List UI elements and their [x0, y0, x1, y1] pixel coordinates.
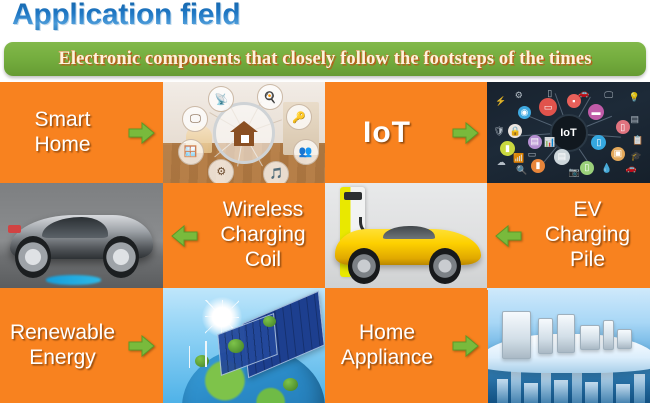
cell-label-iot: IoT: [325, 115, 449, 150]
arrow-right-icon: [127, 333, 157, 359]
subtitle-banner-text: Electronic components that closely follo…: [58, 49, 591, 70]
speaker-icon: ▣: [611, 147, 625, 161]
cell-label-home-appliance: HomeAppliance: [325, 321, 449, 371]
home-appliance-photo: [487, 288, 650, 403]
iot-network-photo: IoT ▭ ▪ ◉ 🔒 ▮ ▤ ▬ ▯ ▯ ▤ ▮ ▯ ▣ ⚡ ⚙ ▯ 🚗 🖵: [487, 82, 650, 183]
cell-home-appliance-image: [487, 288, 650, 403]
people-icon: 👥: [293, 139, 319, 165]
house-icon: [229, 119, 259, 147]
cell-smart-home[interactable]: SmartHome: [0, 82, 163, 183]
laptop-icon: ▬: [588, 104, 604, 120]
cell-renewable-energy[interactable]: RenewableEnergy: [0, 288, 163, 403]
camera-icon: ◉: [518, 106, 531, 119]
ev-charging-pile-photo: [325, 183, 487, 288]
washer-icon: ▤: [554, 149, 570, 165]
wireless-charging-car-photo: [0, 183, 163, 288]
arrow-right-icon: [451, 120, 481, 146]
printer-icon: ▤: [528, 135, 542, 149]
phone-icon: ▯: [616, 120, 630, 134]
cell-label-smart-home: SmartHome: [0, 108, 125, 158]
cell-label-ev-charging-pile: EVChargingPile: [525, 198, 650, 272]
cell-ev-charging-image: [325, 183, 487, 288]
renewable-energy-photo: [163, 288, 325, 403]
cell-label-wireless-charging-coil: WirelessChargingCoil: [201, 198, 325, 272]
cell-smart-home-image: 📡 🍳 🖵 🔑 🪟 👥 ⚙ 🎵: [163, 82, 325, 183]
cell-iot-image: IoT ▭ ▪ ◉ 🔒 ▮ ▤ ▬ ▯ ▯ ▤ ▮ ▯ ▣ ⚡ ⚙ ▯ 🚗 🖵: [487, 82, 650, 183]
kitchen-icon: 🍳: [257, 84, 283, 110]
window-icon: 🪟: [178, 139, 204, 165]
cell-home-appliance[interactable]: HomeAppliance: [325, 288, 487, 403]
smartphone-icon: ▯: [580, 161, 594, 175]
fridge-icon: ▮: [531, 159, 545, 173]
page-title: Application field: [12, 0, 240, 32]
smart-home-photo: 📡 🍳 🖵 🔑 🪟 👥 ⚙ 🎵: [163, 82, 325, 183]
arrow-left-icon: [169, 223, 199, 249]
arrow-right-icon: [451, 333, 481, 359]
iot-center-label: IoT: [560, 127, 577, 139]
cell-wireless-charging-image: [0, 183, 163, 288]
camera-icon: ⚙: [208, 159, 234, 183]
slide-root: Application field Application field Elec…: [0, 0, 650, 403]
cell-wireless-charging-coil[interactable]: WirelessChargingCoil: [163, 183, 325, 288]
arrow-right-icon: [127, 120, 157, 146]
cell-divider: [485, 290, 488, 403]
cell-iot[interactable]: IoT: [325, 82, 487, 183]
cell-label-renewable-energy: RenewableEnergy: [0, 321, 125, 371]
subtitle-banner: Electronic components that closely follo…: [4, 42, 646, 76]
cell-renewable-energy-image: [163, 288, 325, 403]
monitor-icon: ▭: [539, 98, 557, 116]
arrow-left-icon: [493, 223, 523, 249]
cell-ev-charging-pile[interactable]: EVChargingPile: [487, 183, 650, 288]
application-grid: SmartHome: [0, 82, 650, 403]
lock-icon: 🔒: [508, 124, 522, 138]
tablet-icon: ▯: [591, 135, 606, 150]
